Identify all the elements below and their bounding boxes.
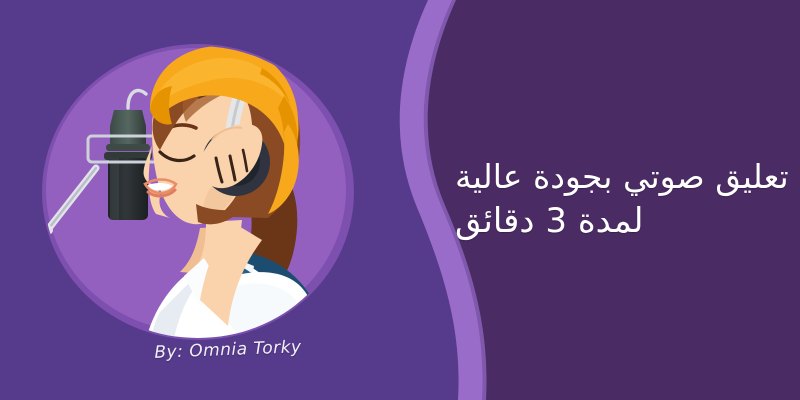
mic-ring-upper xyxy=(106,144,150,151)
mic-body-highlight xyxy=(110,158,119,220)
voice-over-banner: تعليق صوتي بجودة عالية لمدة 3 دقائق By: … xyxy=(0,0,800,400)
mic-capsule-top xyxy=(110,110,146,126)
headline-panel: تعليق صوتي بجودة عالية لمدة 3 دقائق xyxy=(455,0,800,400)
headline-line-1: تعليق صوتي بجودة عالية xyxy=(455,156,789,198)
headline-line-2: لمدة 3 دقائق xyxy=(455,200,644,244)
